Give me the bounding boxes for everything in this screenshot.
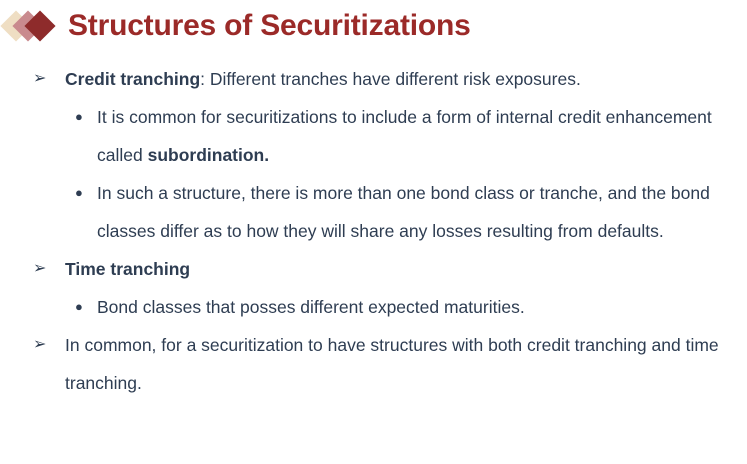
slide-title-row: Structures of Securitizations	[0, 2, 471, 50]
bullet-time-tranching: ➢ Time tranching	[0, 250, 747, 288]
arrow-bullet-icon: ➢	[33, 60, 53, 98]
sub-bullet-text-bond-classes: In such a structure, there is more than …	[97, 183, 710, 241]
three-diamonds-logo-icon	[4, 6, 62, 46]
arrow-bullet-icon: ➢	[33, 250, 53, 288]
slide-canvas: Structures of Securitizations ➢ Credit t…	[0, 0, 747, 464]
dot-bullet-icon: ●	[75, 98, 91, 136]
sub-bullet-bold-subordination: subordination.	[148, 145, 270, 165]
bullet-text-credit-tranching: : Different tranches have different risk…	[200, 69, 581, 89]
bullet-lead-credit-tranching: Credit tranching	[65, 69, 200, 89]
arrow-bullet-icon: ➢	[33, 326, 53, 364]
bullet-in-common: ➢ In common, for a securitization to hav…	[0, 326, 747, 402]
bullet-text-in-common: In common, for a securitization to have …	[65, 335, 719, 393]
sub-bullet-expected-maturities: ● Bond classes that posses different exp…	[0, 288, 747, 326]
slide-body: ➢ Credit tranching: Different tranches h…	[0, 60, 747, 402]
dot-bullet-icon: ●	[75, 174, 91, 212]
sub-bullet-bond-classes: ● In such a structure, there is more tha…	[0, 174, 747, 250]
bullet-lead-time-tranching: Time tranching	[65, 259, 190, 279]
page-title: Structures of Securitizations	[68, 11, 471, 41]
dot-bullet-icon: ●	[75, 288, 91, 326]
sub-bullet-text-expected-maturities: Bond classes that posses different expec…	[97, 297, 525, 317]
sub-bullet-subordination: ● It is common for securitizations to in…	[0, 98, 747, 174]
bullet-credit-tranching: ➢ Credit tranching: Different tranches h…	[0, 60, 747, 98]
